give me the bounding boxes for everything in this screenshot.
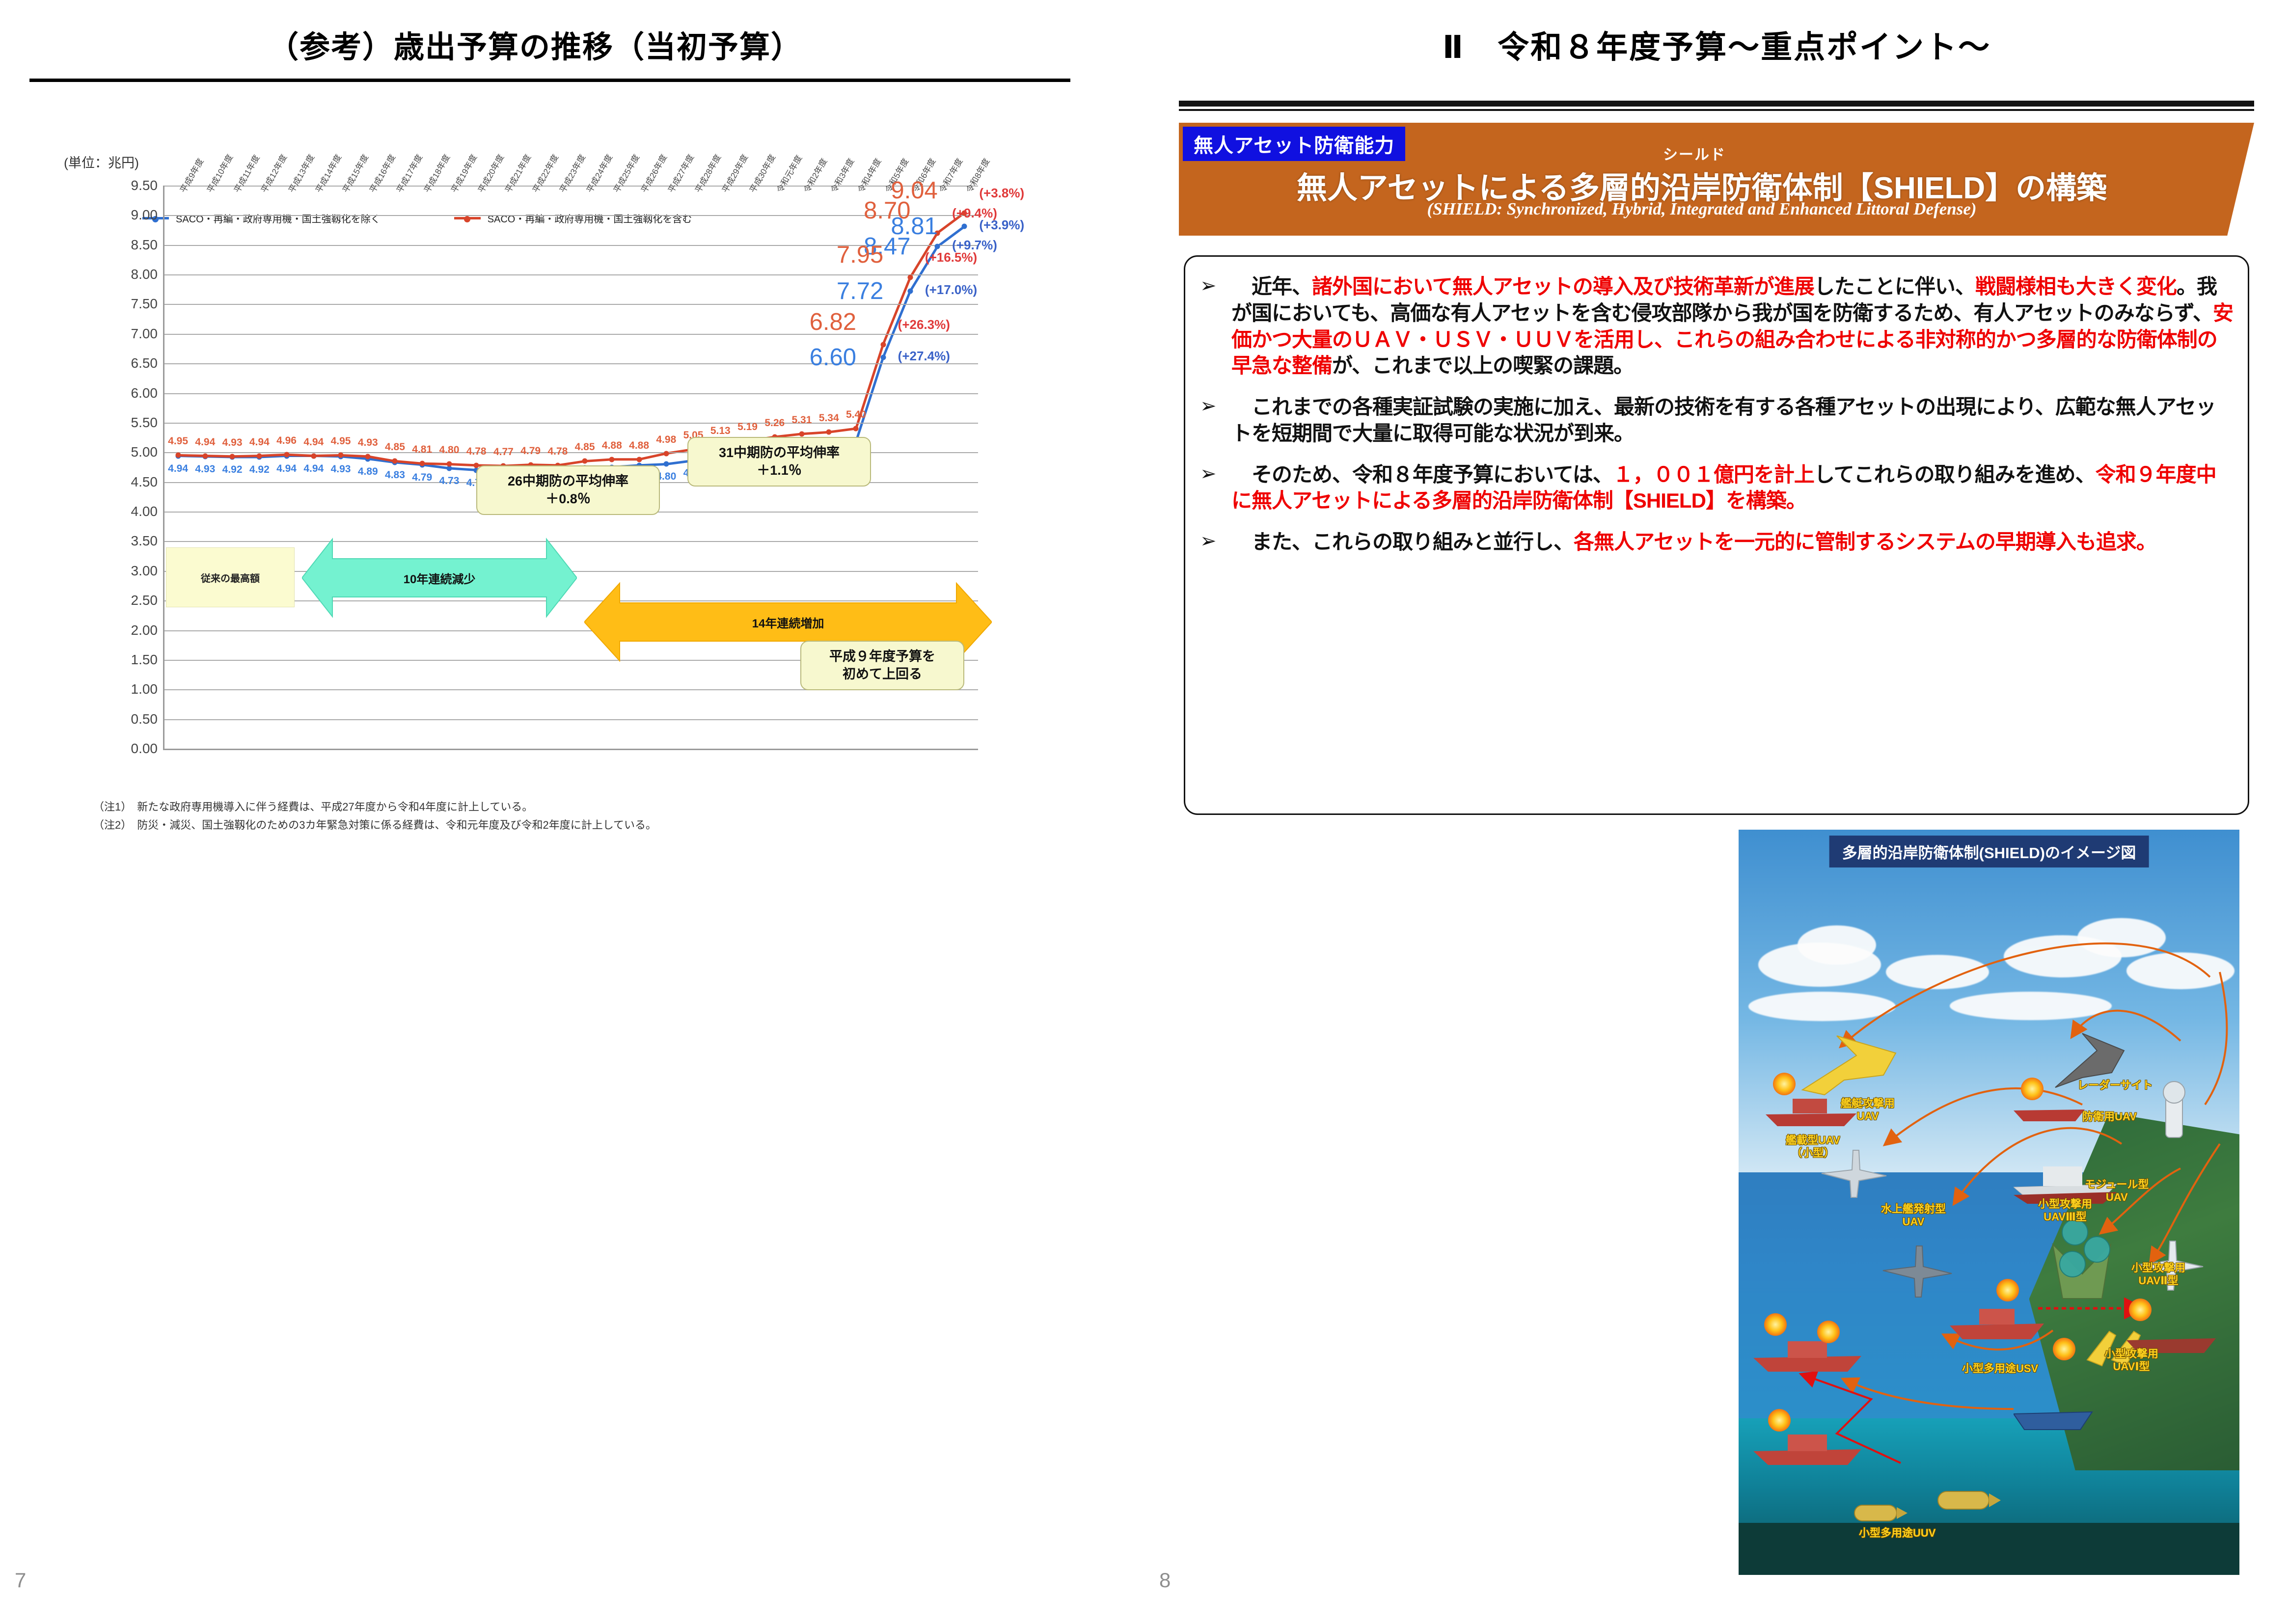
chart-growth-label: (+3.8%)	[979, 186, 1024, 201]
banner-subheading: (SHIELD: Synchronized, Hybrid, Integrate…	[1179, 199, 2225, 219]
chart-data-point	[419, 461, 425, 466]
budget-trend-chart: (単位：兆円) SACO・再編・政府専用機・国土強靱化を除く SACO・再編・政…	[54, 147, 1031, 776]
figure-title: 多層的沿岸防衛体制(SHIELD)のイメージ図	[1829, 836, 2149, 867]
chart-gridline	[164, 274, 978, 275]
chart-value-label: 4.78	[466, 446, 487, 458]
chart-value-label: 4.98	[656, 434, 676, 446]
callout-31-plan-text: 31中期防の平均伸率 ＋1.1％	[719, 445, 840, 478]
chart-data-point	[446, 461, 452, 467]
chart-value-label: 4.81	[412, 444, 432, 456]
chart-unit-label: (単位：兆円)	[64, 152, 139, 171]
label-multipurpose-usv: 小型多用途USV	[1962, 1362, 2038, 1375]
page-title: （参考）歳出予算の推移（当初予算）	[0, 22, 1070, 66]
annotation-14yr-increase-label: 14年連続増加	[584, 611, 992, 633]
chart-value-label: 4.95	[168, 435, 188, 447]
chart-y-tick: 5.00	[131, 444, 158, 460]
chart-y-tick: 7.50	[131, 296, 158, 312]
chart-y-tick: 2.50	[131, 593, 158, 608]
label-small-attack-uav-1: 小型攻撃用 UAVⅠ型	[2104, 1348, 2158, 1374]
chart-value-label: 5.34	[819, 412, 839, 424]
chart-y-tick: 1.50	[131, 652, 158, 668]
chart-value-label: 5.31	[792, 414, 812, 426]
banner-ruby: シールド	[1179, 142, 2210, 164]
chart-data-point	[311, 453, 316, 459]
footnote-1: （注1） 新たな政府専用機導入に伴う経費は、平成27年度から令和4年度に計上して…	[93, 798, 656, 816]
chart-data-point	[826, 430, 832, 435]
chart-data-point	[338, 453, 344, 458]
chart-value-label: 4.94	[249, 436, 270, 448]
chart-y-tick: 1.00	[131, 681, 158, 697]
chart-y-tick: 7.00	[131, 326, 158, 342]
chart-data-point	[907, 275, 913, 280]
chart-x-tick: 令和4年度	[854, 156, 883, 195]
chart-data-point	[935, 244, 940, 249]
chart-data-point	[392, 459, 398, 464]
chart-highlight-value: 6.82	[810, 308, 856, 336]
label-radar-site: レーダーサイト	[2077, 1079, 2153, 1092]
chart-data-point	[636, 457, 642, 462]
key-point-bullet: ➢ また、これらの取り組みと並行し、各無人アセットを一元的に管制するシステムの早…	[1200, 529, 2233, 555]
explosion-icon	[2053, 1338, 2075, 1360]
chart-gridline	[164, 423, 978, 424]
annotation-former-max: 従来の最高額	[166, 547, 295, 607]
key-point-bullet: ➢ そのため、令和８年度予算においては、１，００１億円を計上してこれらの取り組み…	[1200, 461, 2233, 514]
chart-value-label: 4.85	[575, 441, 595, 453]
chart-data-point	[853, 426, 859, 432]
chart-growth-label: (+27.4%)	[898, 349, 950, 364]
chart-highlight-value: 6.60	[810, 344, 856, 371]
multipurpose-usv-icon	[2014, 1389, 2097, 1438]
callout-exceed-h9-text: 平成９年度予算を 初めて上回る	[829, 649, 935, 681]
chart-y-tick: 4.00	[131, 504, 158, 519]
chart-value-label: 4.93	[222, 437, 243, 449]
chart-value-label: 4.94	[195, 436, 215, 448]
chart-highlight-value: 9.04	[891, 177, 937, 204]
bullet-marker-icon: ➢	[1200, 461, 1223, 514]
chart-value-label: 4.94	[303, 463, 324, 475]
chart-x-tick: 令和7年度	[935, 156, 965, 195]
body-text: したことに伴い、	[1814, 275, 1975, 298]
chart-x-tick: 令和3年度	[827, 156, 856, 195]
chart-growth-label: (+26.3%)	[898, 317, 950, 332]
chart-gridline	[164, 393, 978, 394]
label-module-uav: モジュール型 UAV	[2085, 1178, 2149, 1204]
chart-y-tick: 8.00	[131, 267, 158, 282]
bullet-text: また、これらの取り組みと並行し、各無人アセットを一元的に管制するシステムの早期導…	[1231, 529, 2156, 555]
callout-26-plan: 26中期防の平均伸率 ＋0.8％	[476, 465, 660, 515]
explosion-icon	[1768, 1409, 1791, 1432]
chart-data-point	[284, 452, 289, 458]
explosion-icon	[1773, 1073, 1796, 1095]
section-rule-thick	[1179, 101, 2254, 107]
chart-value-label: 4.79	[412, 472, 432, 484]
slide-pair: （参考）歳出予算の推移（当初予算） (単位：兆円) SACO・再編・政府専用機・…	[0, 0, 2289, 1624]
chart-value-label: 5.13	[710, 425, 731, 437]
label-multipurpose-uuv: 小型多用途UUV	[1859, 1527, 1935, 1540]
chart-y-tick: 9.00	[131, 207, 158, 223]
bullet-marker-icon: ➢	[1200, 529, 1223, 555]
left-slide: （参考）歳出予算の推移（当初予算） (単位：兆円) SACO・再編・政府専用機・…	[0, 0, 1144, 1624]
footnote-2: （注2） 防災・減災、国土強靱化のための3カ年緊急対策に係る経費は、令和元年度及…	[93, 816, 656, 834]
bullet-marker-icon: ➢	[1200, 273, 1223, 379]
chart-y-tick: 8.50	[131, 237, 158, 253]
chart-value-label: 5.26	[764, 417, 785, 429]
chart-value-label: 4.88	[602, 440, 622, 452]
label-shipborne-uav: 艦載型UAV （小型）	[1786, 1134, 1840, 1160]
chart-value-label: 4.83	[385, 469, 405, 481]
chart-highlight-value: 7.95	[837, 241, 883, 269]
explosion-icon	[1764, 1313, 1787, 1336]
page-number-left: 7	[15, 1569, 26, 1592]
emphasis-text: １，００１億円を計上	[1613, 463, 1814, 486]
key-points-box: ➢ 近年、諸外国において無人アセットの導入及び技術革新が進展したことに伴い、戦闘…	[1184, 255, 2249, 815]
chart-value-label: 4.96	[276, 435, 297, 447]
chart-value-label: 4.88	[629, 440, 649, 452]
body-text: 近年、	[1231, 275, 1312, 298]
chart-x-tick: 令和2年度	[800, 156, 829, 195]
chart-y-tick: 0.50	[131, 711, 158, 727]
chart-value-label: 4.79	[520, 445, 541, 457]
chart-gridline	[164, 215, 978, 216]
bullet-text: そのため、令和８年度予算においては、１，００１億円を計上してこれらの取り組みを進…	[1231, 461, 2233, 514]
title-rule	[29, 79, 1070, 82]
callout-exceed-h9: 平成９年度予算を 初めて上回る	[800, 641, 964, 690]
chart-y-tick: 4.50	[131, 474, 158, 490]
bullet-marker-icon: ➢	[1200, 394, 1223, 447]
chart-value-label: 4.80	[439, 444, 460, 456]
bullet-text: これまでの各種実証試験の実施に加え、最新の技術を有する各種アセットの出現により、…	[1231, 394, 2233, 447]
chart-data-point	[582, 459, 588, 464]
chart-data-point	[663, 461, 669, 467]
chart-value-label: 4.94	[303, 436, 324, 448]
body-text: これまでの各種実証試験の実施に加え、最新の技術を有する各種アセットの出現により、…	[1231, 395, 2216, 445]
chart-data-point	[202, 453, 208, 459]
emphasis-text: 諸外国において無人アセットの導入及び技術革新が進展	[1312, 275, 1814, 298]
explosion-icon	[1817, 1321, 1840, 1343]
section-title: Ⅱ 令和８年度予算～重点ポイント～	[1144, 22, 2289, 67]
body-text: そのため、令和８年度予算においては、	[1231, 463, 1613, 486]
chart-data-point	[175, 453, 181, 458]
chart-growth-label: (+9.4%)	[952, 206, 997, 221]
chart-y-tick: 0.00	[131, 741, 158, 757]
label-small-attack-uav-3: 小型攻撃用 UAVⅢ型	[2038, 1198, 2092, 1224]
chart-value-label: 4.94	[276, 463, 297, 475]
callout-26-plan-text: 26中期防の平均伸率 ＋0.8％	[508, 474, 628, 506]
chart-y-tick: 3.50	[131, 533, 158, 549]
label-surface-launch-uav: 水上艦発射型 UAV	[1881, 1203, 1946, 1229]
right-slide: Ⅱ 令和８年度予算～重点ポイント～ 無人アセット防衛能力 シールド 無人アセット…	[1144, 0, 2289, 1624]
body-text: してこれらの取り組みを進め、	[1814, 463, 2096, 486]
chart-data-point	[663, 451, 669, 456]
callout-31-plan: 31中期防の平均伸率 ＋1.1％	[687, 437, 871, 487]
chart-value-label: 4.92	[249, 464, 270, 476]
annotation-10yr-decrease-label: 10年連続減少	[302, 567, 577, 589]
chart-data-point	[799, 431, 804, 436]
surface-launch-uav-icon	[1881, 1242, 1955, 1301]
chart-gridline	[164, 719, 978, 720]
label-ship-attack-uav: 艦艇攻撃用 UAV	[1841, 1097, 1895, 1123]
radar-site-icon	[2156, 1078, 2191, 1141]
chart-y-tick: 6.50	[131, 355, 158, 371]
chart-value-label: 4.85	[385, 441, 405, 453]
chart-value-label: 4.73	[439, 475, 460, 487]
multipurpose-uuv-icon	[1935, 1483, 2004, 1517]
shield-concept-figure: 多層的沿岸防衛体制(SHIELD)のイメージ図 レーダーサイト 防衛用UAV 艦…	[1739, 830, 2239, 1575]
chart-data-point	[907, 288, 913, 294]
figure-canvas: 多層的沿岸防衛体制(SHIELD)のイメージ図 レーダーサイト 防衛用UAV 艦…	[1739, 830, 2239, 1575]
key-point-bullet: ➢ これまでの各種実証試験の実施に加え、最新の技術を有する各種アセットの出現によ…	[1200, 394, 2233, 447]
chart-highlight-value: 7.72	[837, 277, 883, 305]
label-small-attack-uav-2: 小型攻撃用 UAVⅡ型	[2131, 1262, 2185, 1288]
chart-data-point	[880, 355, 886, 360]
chart-value-label: 4.89	[358, 466, 378, 478]
chart-growth-label: (+17.0%)	[925, 282, 977, 298]
chart-value-label: 4.93	[331, 463, 351, 475]
key-point-bullet: ➢ 近年、諸外国において無人アセットの導入及び技術革新が進展したことに伴い、戦闘…	[1200, 273, 2233, 379]
bullet-text: 近年、諸外国において無人アセットの導入及び技術革新が進展したことに伴い、戦闘様相…	[1231, 273, 2233, 379]
explosion-icon	[2021, 1078, 2044, 1100]
explosion-icon	[2129, 1299, 2152, 1321]
label-defense-uav: 防衛用UAV	[2082, 1110, 2137, 1123]
chart-y-tick: 3.00	[131, 563, 158, 579]
chart-data-point	[365, 454, 371, 459]
chart-footnotes: （注1） 新たな政府専用機導入に伴う経費は、平成27年度から令和4年度に計上して…	[93, 798, 656, 835]
body-text: また、これらの取り組みと並行し、	[1231, 530, 1574, 553]
chart-value-label: 5.40	[846, 409, 866, 421]
module-uav-icon	[2048, 1213, 2136, 1296]
chart-x-tick: 平成9年度	[176, 156, 206, 195]
section-rule-thin	[1179, 109, 2254, 111]
chart-value-label: 4.95	[331, 435, 351, 447]
chart-value-label: 4.78	[547, 446, 568, 458]
chart-data-point	[230, 454, 235, 459]
chart-data-point	[609, 457, 615, 462]
chart-y-tick: 9.50	[131, 178, 158, 193]
chart-y-tick: 2.00	[131, 623, 158, 638]
multipurpose-uuv-icon	[1852, 1497, 1910, 1529]
chart-value-label: 4.93	[195, 463, 215, 475]
chart-value-label: 4.94	[168, 463, 188, 475]
chart-value-label: 5.19	[737, 421, 758, 433]
chart-y-tick: 5.50	[131, 415, 158, 431]
chart-data-point	[880, 342, 886, 347]
emphasis-text: 戦闘様相も大きく変化	[1975, 275, 2177, 298]
page-number-right: 8	[1159, 1569, 1171, 1592]
explosion-icon	[1996, 1279, 2019, 1301]
chart-data-point	[257, 453, 262, 459]
chart-value-label: 4.93	[358, 437, 378, 449]
chart-data-point	[962, 224, 967, 229]
chart-value-label: 4.92	[222, 464, 243, 476]
chart-value-label: 4.77	[493, 446, 514, 458]
chart-y-tick: 6.00	[131, 385, 158, 401]
body-text: が、これまで以上の喫緊の課題。	[1332, 354, 1634, 377]
chart-growth-label: (+16.5%)	[925, 250, 977, 265]
emphasis-text: 各無人アセットを一元的に管制するシステムの早期導入も追求。	[1574, 530, 2156, 553]
